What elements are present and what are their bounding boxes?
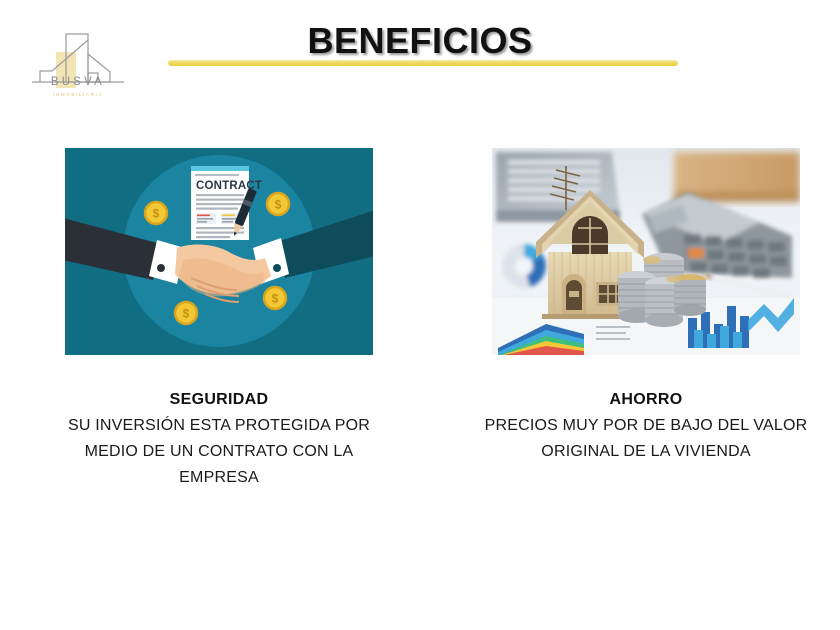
benefit-card-seguridad: CONTRACT <box>65 148 373 491</box>
slide-header: BUSVA INMOBILIARIA BENEFICIOS <box>0 0 840 120</box>
benefit-body: SU INVERSIÓN ESTA PROTEGIDA POR MEDIO DE… <box>44 413 394 491</box>
benefit-caption-seguridad: SEGURIDAD SU INVERSIÓN ESTA PROTEGIDA PO… <box>44 387 394 491</box>
brand-name: BUSVA <box>22 76 134 88</box>
svg-text:$: $ <box>272 292 279 306</box>
house-model-coins-photo <box>492 148 800 355</box>
brand-tagline: INMOBILIARIA <box>22 92 134 97</box>
benefit-heading: AHORRO <box>471 387 821 413</box>
benefit-caption-ahorro: AHORRO PRECIOS MUY POR DE BAJO DEL VALOR… <box>471 387 821 465</box>
benefit-card-ahorro: AHORRO PRECIOS MUY POR DE BAJO DEL VALOR… <box>492 148 800 465</box>
svg-text:$: $ <box>275 198 282 212</box>
benefit-heading: SEGURIDAD <box>44 387 394 413</box>
house-door <box>562 274 586 314</box>
title-underline-accent <box>168 60 678 66</box>
svg-text:$: $ <box>183 307 190 321</box>
handshake-contract-illustration: CONTRACT <box>65 148 373 355</box>
benefit-body: PRECIOS MUY POR DE BAJO DEL VALOR ORIGIN… <box>471 413 821 465</box>
attic-window <box>572 216 608 254</box>
page-title: BENEFICIOS <box>0 20 840 62</box>
svg-text:$: $ <box>153 207 160 221</box>
